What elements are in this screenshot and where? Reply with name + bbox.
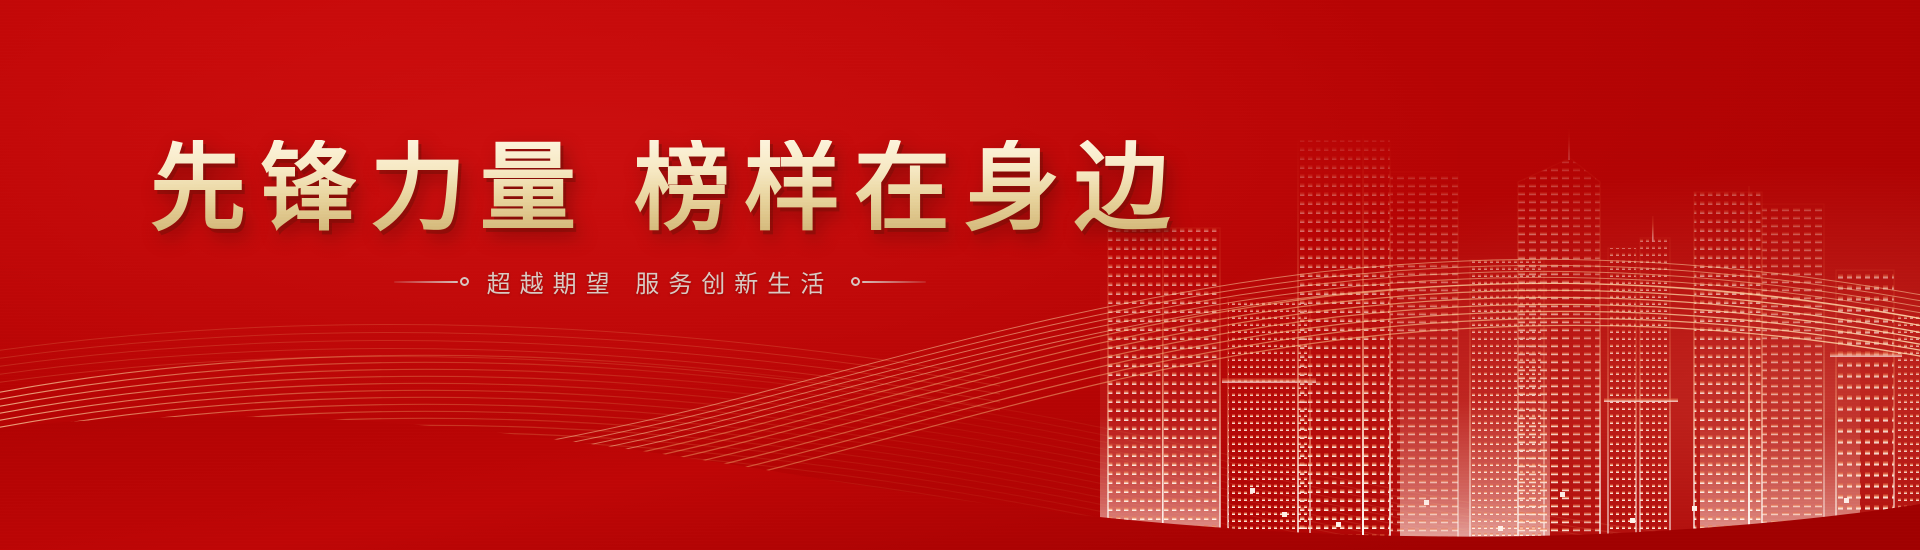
line-dot-ornament-icon <box>394 277 471 286</box>
banner-root: 先 锋 力 量 榜 样 在 身 边 超越期望 服务创新生活 <box>0 0 1920 550</box>
page-title: 先 锋 力 量 榜 样 在 身 边 <box>150 140 1170 236</box>
title-char: 样 <box>744 140 840 236</box>
ornament-dot <box>460 277 469 286</box>
ornament-dot <box>851 277 860 286</box>
dot-line-ornament-icon <box>849 277 926 286</box>
title-char: 身 <box>964 140 1060 236</box>
headline-block: 先 锋 力 量 榜 样 在 身 边 超越期望 服务创新生活 <box>0 0 1320 550</box>
subtitle-row: 超越期望 服务创新生活 <box>394 264 927 299</box>
subtitle: 超越期望 服务创新生活 <box>487 264 834 299</box>
ornament-bar <box>394 281 458 283</box>
title-char: 先 <box>150 140 246 236</box>
title-char: 力 <box>370 140 466 236</box>
title-char: 量 <box>480 140 576 236</box>
title-char: 边 <box>1074 140 1170 236</box>
title-char: 榜 <box>634 140 730 236</box>
ornament-bar <box>862 281 926 283</box>
title-char: 在 <box>854 140 950 236</box>
title-char: 锋 <box>260 140 356 236</box>
